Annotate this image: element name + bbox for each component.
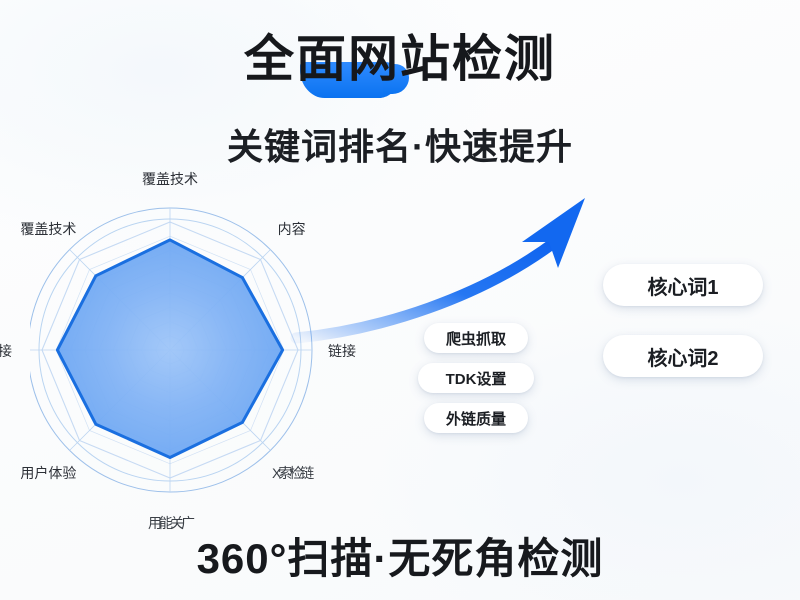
page-subtitle: 关键词排名·快速提升 [0, 118, 800, 170]
feature-pill-label: TDK设置 [446, 368, 507, 389]
feature-pill-label: 爬虫抓取 [446, 328, 506, 349]
feature-pill-2[interactable]: 外链质量 [424, 403, 528, 433]
radar-axis-label-5: 用户体验 [20, 463, 76, 483]
keyword-pill-1[interactable]: 核心词2 [603, 335, 763, 377]
radar-data-polygon [57, 240, 282, 458]
feature-pill-label: 外链质量 [446, 408, 506, 429]
radar-axis-label-7: 覆盖技术 [20, 219, 76, 239]
keyword-pill-label: 核心词1 [647, 271, 718, 300]
page-title: 全面网站检测 [244, 34, 556, 84]
feature-pill-1[interactable]: TDK设置 [418, 363, 534, 393]
poster-canvas: 全面网站检测 关键词排名·快速提升 覆盖技术内容链接X索检链用能关广用户体验链接… [0, 0, 800, 600]
keyword-pill-0[interactable]: 核心词1 [603, 264, 763, 306]
radar-axis-label-6: 链接 [0, 341, 12, 361]
arrow-head [522, 198, 585, 268]
radar-axis-label-2: 链接 [328, 341, 356, 361]
feature-pill-0[interactable]: 爬虫抓取 [424, 323, 528, 353]
page-title-block: 全面网站检测 [0, 34, 800, 84]
page-footer-text: 360°扫描·无死角检测 [0, 525, 800, 586]
radar-axis-label-3: X索检链 [272, 463, 311, 483]
radar-axis-label-0: 覆盖技术 [142, 169, 198, 189]
radar-axis-label-1: 内容 [278, 219, 306, 239]
keyword-pill-label: 核心词2 [647, 342, 718, 371]
radar-chart [30, 190, 370, 510]
